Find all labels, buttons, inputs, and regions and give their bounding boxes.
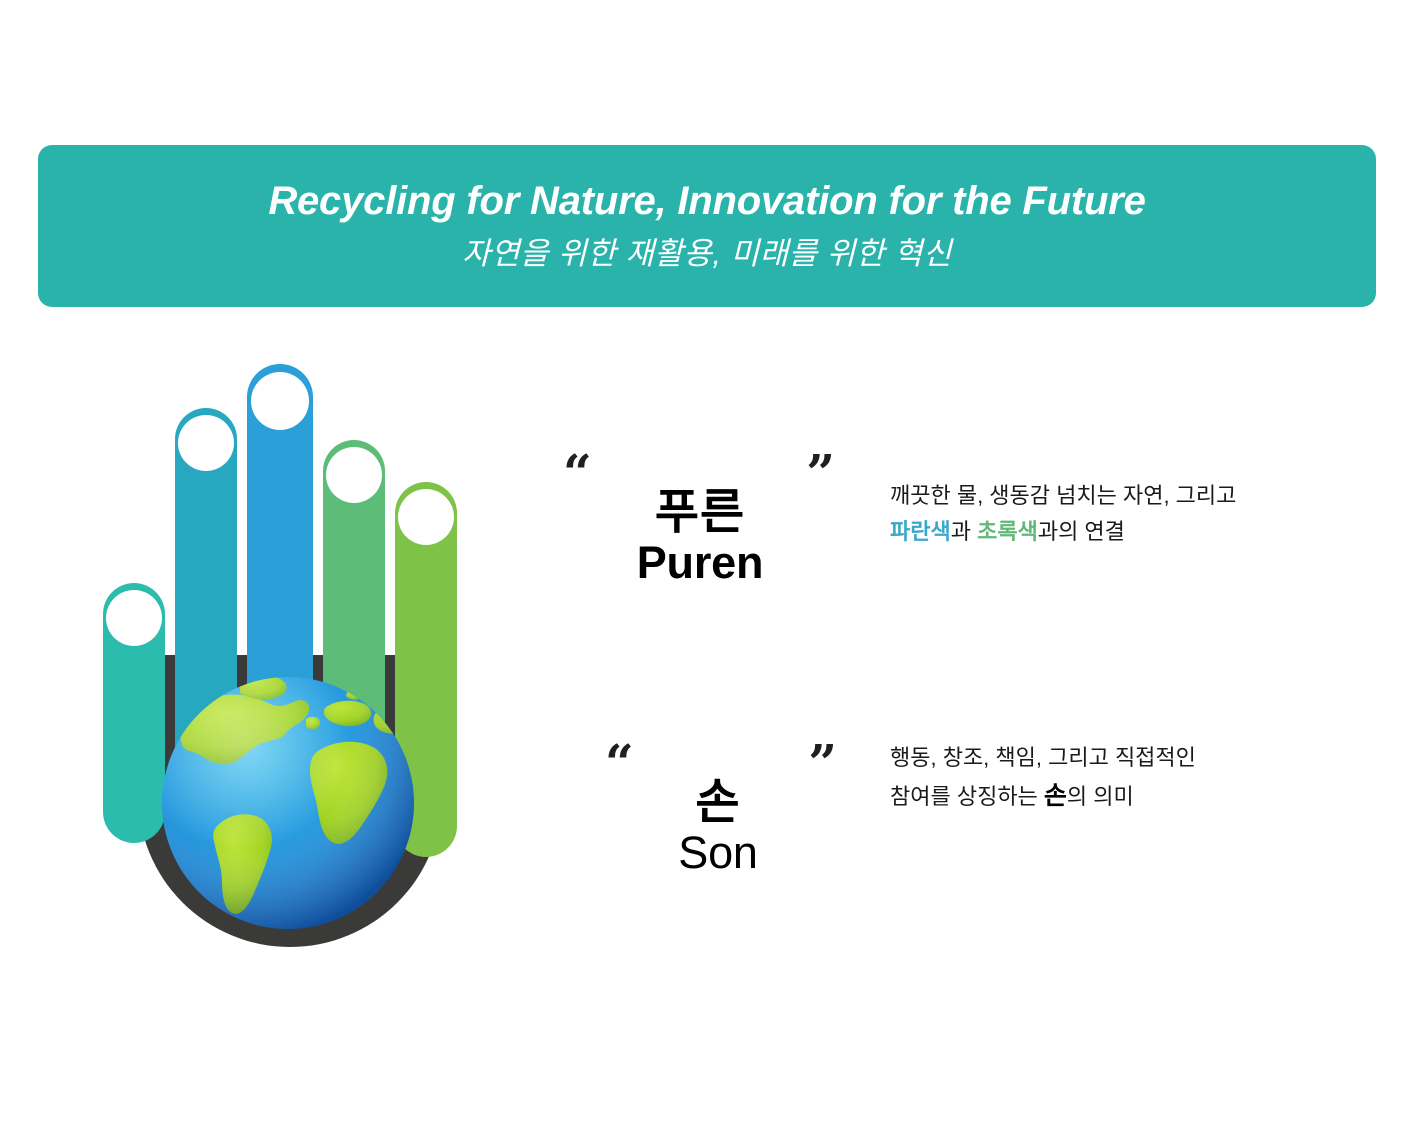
word-romanized-son: Son [678,828,757,878]
header-title-korean: 자연을 위한 재활용, 미래를 위한 혁신 [462,228,952,273]
description-tail: 과의 연결 [1038,519,1125,544]
description-tail: 의 의미 [1067,784,1134,809]
word-column-son: “ ” 손 Son [568,746,868,878]
header-banner: Recycling for Nature, Innovation for the… [38,145,1376,307]
emphasis-blue: 파란색 [890,519,951,544]
emphasis-bold: 손 [1044,782,1067,810]
word-romanized-puren: Puren [637,538,764,588]
quote-open-icon: “ [563,456,592,490]
quote-row-puren: “ ” [555,456,845,490]
description-line-1: 깨끗한 물, 생동감 넘치는 자연, 그리고 [890,478,1360,514]
description-head: 참여를 상징하는 [890,784,1044,809]
emphasis-green: 초록색 [977,519,1038,544]
hand-globe-logo [90,355,490,985]
description-line-2: 파란색과 초록색과의 연결 [890,514,1360,550]
word-korean-puren: 푸른 [655,488,745,538]
description-line-1: 행동, 창조, 책임, 그리고 직접적인 [890,740,1360,776]
word-korean-son: 손 [695,778,740,828]
description-son: 행동, 창조, 책임, 그리고 직접적인 참여를 상징하는 손의 의미 [890,740,1360,816]
quote-row-son: “ ” [593,746,843,780]
quote-close-icon: ” [808,746,837,780]
meaning-block-puren: “ ” 푸른 Puren 깨끗한 물, 생동감 넘치는 자연, 그리고 파란색과… [540,440,1340,630]
header-title-english: Recycling for Nature, Innovation for the… [268,179,1145,224]
description-puren: 깨끗한 물, 생동감 넘치는 자연, 그리고 파란색과 초록색과의 연결 [890,478,1360,549]
quote-close-icon: ” [806,456,835,490]
slide-canvas: Recycling for Nature, Innovation for the… [0,0,1417,1125]
word-column-puren: “ ” 푸른 Puren [550,456,850,588]
finger-thumb [103,583,165,843]
meaning-block-son: “ ” 손 Son 행동, 창조, 책임, 그리고 직접적인 참여를 상징하는 … [560,730,1340,915]
quote-open-icon: “ [605,746,634,780]
description-line-2: 참여를 상징하는 손의 의미 [890,776,1360,817]
description-mid: 과 [951,519,977,544]
